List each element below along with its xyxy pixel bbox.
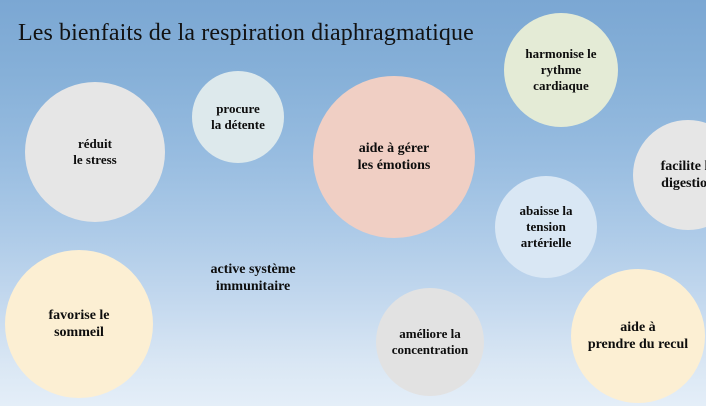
bubble-aide-a-gerer-les-emotions[interactable]: aide à gérerles émotions xyxy=(313,76,475,238)
bubble-label: facilite ladigestion xyxy=(655,158,706,192)
bubble-aide-a-prendre-du-recul[interactable]: aide àprendre du recul xyxy=(571,269,705,403)
bubble-facilite-la-digestion[interactable]: facilite ladigestion xyxy=(633,120,706,230)
page-title: Les bienfaits de la respiration diaphrag… xyxy=(18,20,474,46)
floating-label-active-systeme-immunitaire: active systèmeimmunitaire xyxy=(211,261,296,295)
bubble-harmonise-le-rythme-cardiaque[interactable]: harmonise lerythmecardiaque xyxy=(504,13,618,127)
bubble-procure-la-detente[interactable]: procurela détente xyxy=(192,71,284,163)
bubble-label: aide à gérerles émotions xyxy=(352,140,437,174)
bubble-label: abaisse latensionartérielle xyxy=(513,203,578,251)
bubble-label: procurela détente xyxy=(205,101,271,133)
bubble-abaisse-la-tension-arterielle[interactable]: abaisse latensionartérielle xyxy=(495,176,597,278)
bubble-label: harmonise lerythmecardiaque xyxy=(519,46,602,94)
bubble-label: améliore laconcentration xyxy=(386,326,475,358)
slide-canvas: Les bienfaits de la respiration diaphrag… xyxy=(0,0,706,406)
bubble-favorise-le-sommeil[interactable]: favorise lesommeil xyxy=(5,250,153,398)
bubble-ameliore-la-concentration[interactable]: améliore laconcentration xyxy=(376,288,484,396)
bubble-reduit-le-stress[interactable]: réduitle stress xyxy=(25,82,165,222)
bubble-label: favorise lesommeil xyxy=(42,307,115,341)
bubble-label: réduitle stress xyxy=(67,136,122,168)
bubble-label: aide àprendre du recul xyxy=(582,319,694,353)
